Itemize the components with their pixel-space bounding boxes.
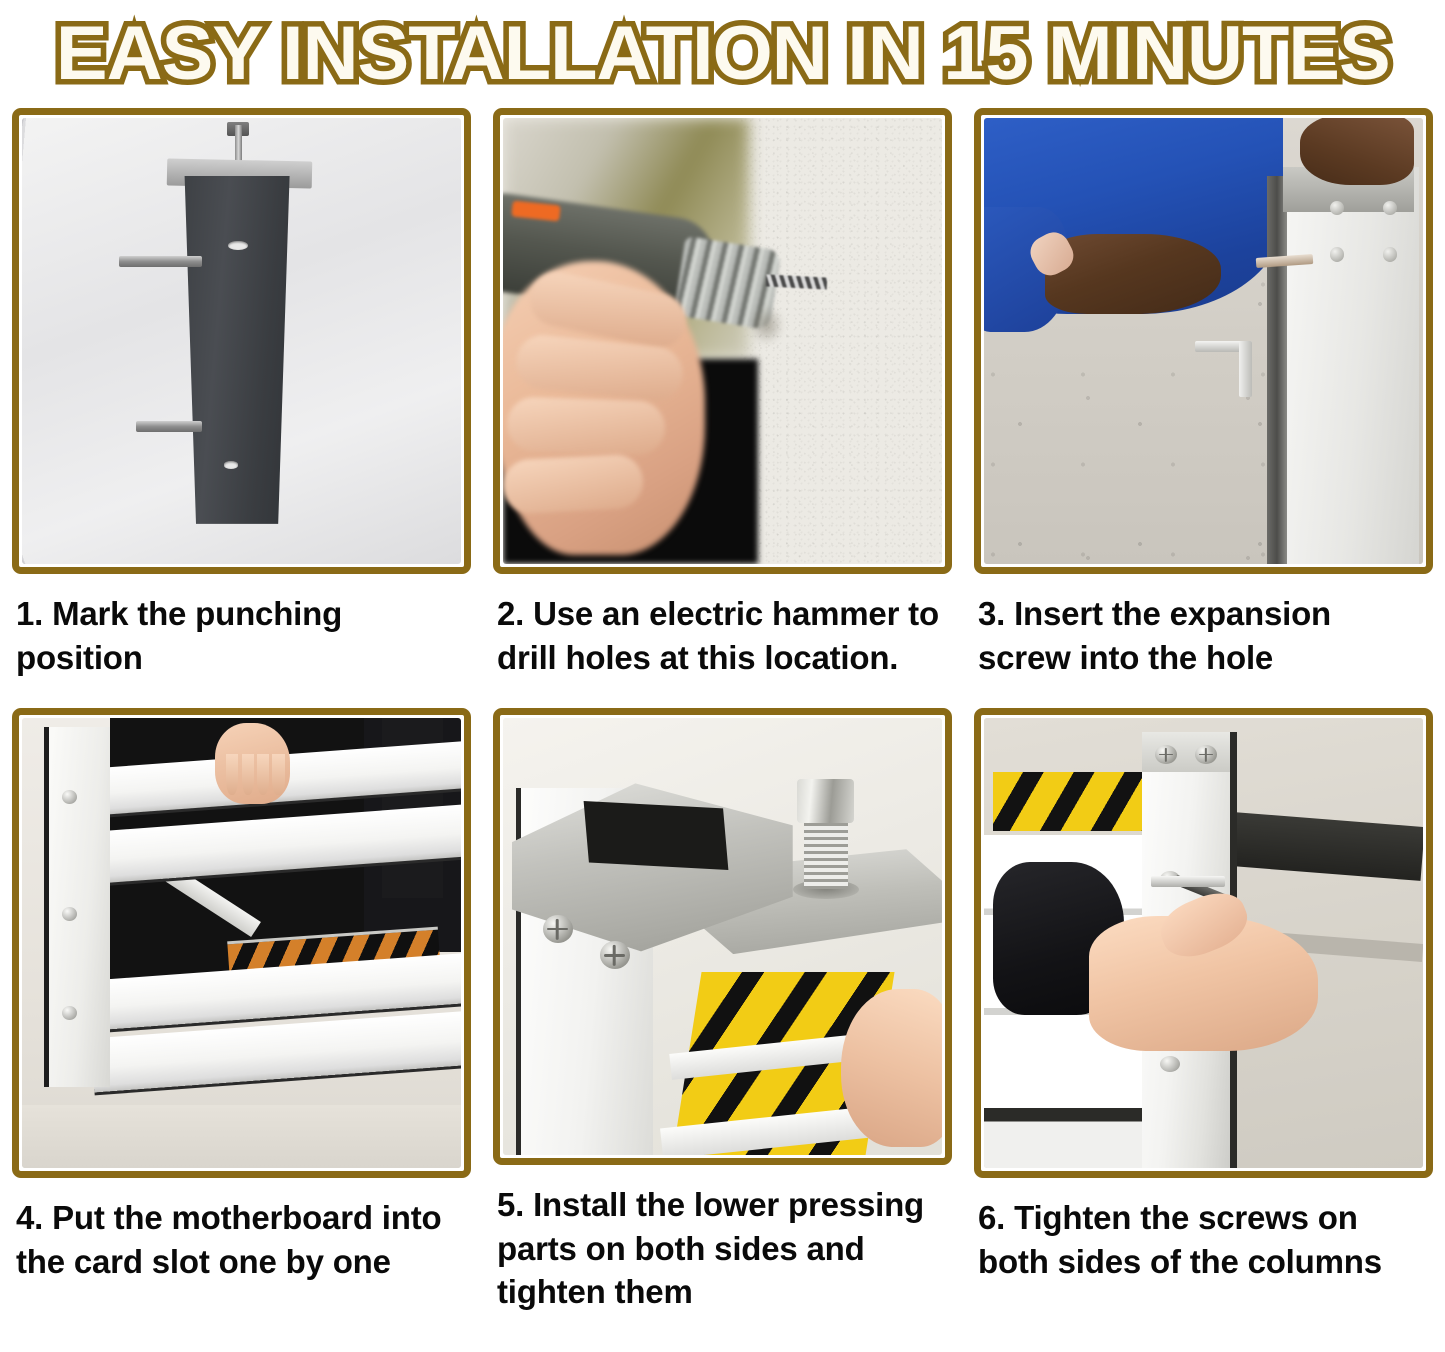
worker-arm	[1045, 234, 1221, 314]
installation-steps-grid: 1. Mark the punching position	[0, 108, 1445, 1314]
finger	[257, 754, 269, 795]
step-6-photo-tighten-column-screws	[984, 718, 1423, 1168]
finger	[506, 396, 666, 455]
mounting-hole	[224, 461, 238, 468]
page-title: EASY INSTALLATION IN 15 MINUTES	[56, 16, 1390, 92]
phillips-screw	[1155, 745, 1177, 764]
worker-arm	[1300, 118, 1414, 185]
finger	[272, 754, 284, 795]
hex-bolt-head	[797, 779, 854, 823]
dark-column-bracket	[180, 176, 294, 524]
column-screw	[1330, 201, 1344, 215]
column-screw	[1383, 247, 1397, 261]
step-5-cell: 5. Install the lower pressing parts on b…	[493, 708, 952, 1314]
phillips-screw	[1195, 745, 1217, 764]
hand	[841, 989, 942, 1146]
step-6-photo-frame	[974, 708, 1433, 1178]
floor	[22, 1105, 461, 1168]
step-2-cell: 2. Use an electric hammer to drill holes…	[493, 108, 952, 708]
step-2-photo-drill-holes	[503, 118, 942, 564]
bracket-slot	[584, 801, 729, 870]
step-4-cell: 4. Put the motherboard into the card slo…	[12, 708, 471, 1314]
step-1-photo-frame	[12, 108, 471, 574]
finger	[503, 453, 645, 514]
step-3-caption: 3. Insert the expansion screw into the h…	[978, 592, 1429, 679]
allen-key-on-floor	[1195, 341, 1252, 352]
step-1-photo-mark-punching-position	[22, 118, 461, 564]
column-dark-edge	[1267, 176, 1287, 564]
step-2-photo-frame	[493, 108, 952, 574]
column-side-screw	[1160, 1056, 1180, 1072]
header-banner: EASY INSTALLATION IN 15 MINUTES	[0, 0, 1445, 108]
step-3-photo-insert-expansion-screw	[984, 118, 1423, 564]
step-6-cell: 6. Tighten the screws on both sides of t…	[974, 708, 1433, 1314]
step-5-caption: 5. Install the lower pressing parts on b…	[497, 1183, 948, 1314]
expansion-bolt	[136, 421, 202, 432]
step-4-photo-motherboard-card-slot	[22, 718, 461, 1168]
step-6-caption: 6. Tighten the screws on both sides of t…	[978, 1196, 1429, 1283]
step-4-photo-frame	[12, 708, 471, 1178]
step-4-caption: 4. Put the motherboard into the card slo…	[16, 1196, 467, 1283]
drill-dust	[749, 305, 784, 345]
step-5-photo-frame	[493, 708, 952, 1165]
step-2-caption: 2. Use an electric hammer to drill holes…	[497, 592, 948, 679]
step-1-cell: 1. Mark the punching position	[12, 108, 471, 708]
white-column	[1287, 167, 1419, 564]
threaded-rod	[235, 125, 242, 165]
column-screw	[1330, 247, 1344, 261]
white-column-post	[44, 727, 110, 1087]
expansion-bolt	[119, 256, 202, 267]
finger	[226, 754, 238, 795]
step-1-caption: 1. Mark the punching position	[16, 592, 467, 679]
step-5-photo-lower-pressing-parts	[503, 718, 942, 1155]
step-3-cell: 3. Insert the expansion screw into the h…	[974, 108, 1433, 708]
bolt-thread	[804, 819, 848, 889]
hex-key	[1151, 876, 1226, 888]
step-3-photo-frame	[974, 108, 1433, 574]
finger	[242, 754, 254, 795]
hazard-stripe-tape	[993, 772, 1151, 831]
column-screw	[1383, 201, 1397, 215]
